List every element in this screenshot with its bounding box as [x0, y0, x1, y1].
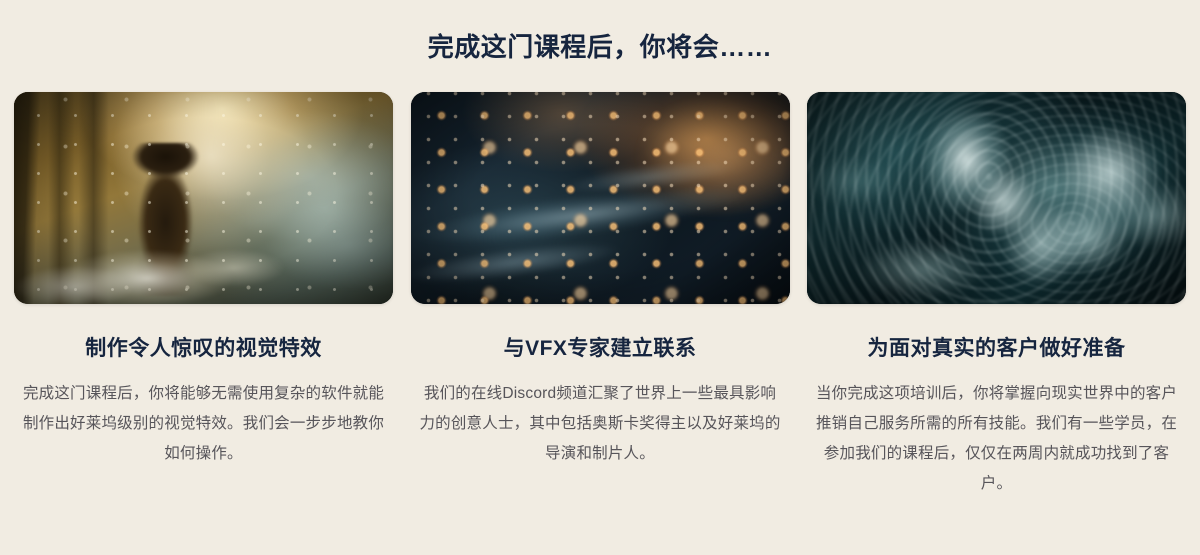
benefit-card-title-2: 与VFX专家建立联系: [504, 335, 697, 363]
image-vignette-layer: [807, 92, 1186, 304]
benefits-section: 完成这门课程后，你将会…… 制作令人惊叹的视觉特效 完成这门课程后，你将能够无需…: [0, 0, 1200, 555]
benefit-card-title-1: 制作令人惊叹的视觉特效: [85, 335, 322, 363]
image-vignette-layer: [411, 92, 790, 304]
benefit-card-body-1: 完成这门课程后，你将能够无需使用复杂的软件就能制作出好莱坞级别的视觉特效。我们会…: [14, 379, 393, 469]
benefit-image-2: [411, 92, 790, 304]
benefit-card-1: 制作令人惊叹的视觉特效 完成这门课程后，你将能够无需使用复杂的软件就能制作出好莱…: [14, 92, 393, 469]
benefit-card-title-3: 为面对真实的客户做好准备: [868, 335, 1126, 363]
benefit-image-1: [14, 92, 393, 304]
benefit-card-3: 为面对真实的客户做好准备 当你完成这项培训后，你将掌握向现实世界中的客户推销自己…: [807, 92, 1186, 499]
benefit-card-2: 与VFX专家建立联系 我们的在线Discord频道汇聚了世界上一些最具影响力的创…: [411, 92, 790, 469]
benefit-image-3: [807, 92, 1186, 304]
image-vignette-layer: [14, 92, 393, 304]
section-heading: 完成这门课程后，你将会……: [0, 0, 1200, 64]
benefit-cards-row: 制作令人惊叹的视觉特效 完成这门课程后，你将能够无需使用复杂的软件就能制作出好莱…: [0, 92, 1200, 499]
benefit-card-body-2: 我们的在线Discord频道汇聚了世界上一些最具影响力的创意人士，其中包括奥斯卡…: [411, 379, 790, 469]
benefit-card-body-3: 当你完成这项培训后，你将掌握向现实世界中的客户推销自己服务所需的所有技能。我们有…: [807, 379, 1186, 499]
